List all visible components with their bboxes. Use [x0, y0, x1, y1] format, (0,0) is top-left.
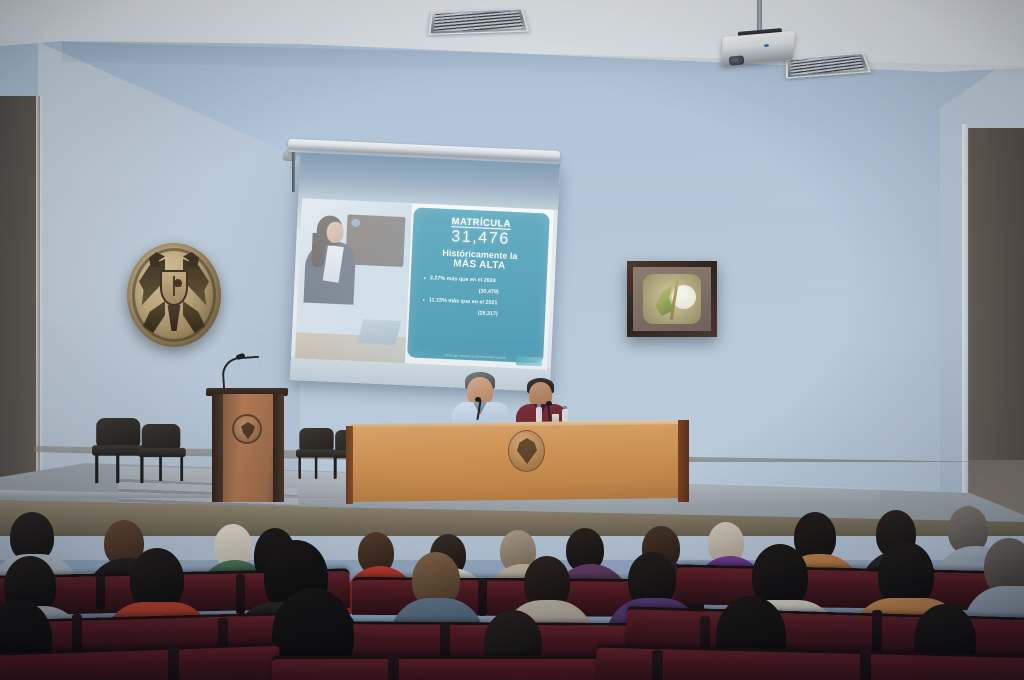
left-wall-edge	[36, 96, 43, 532]
seat-divider	[860, 646, 871, 680]
bullet-dot-icon: •	[423, 275, 426, 284]
slide-logo	[516, 356, 542, 366]
seat-divider	[652, 650, 663, 680]
seat-divider	[872, 610, 882, 656]
table-edge-left	[346, 426, 353, 504]
table-edge-right	[678, 420, 689, 502]
podium-microphone-icon	[221, 356, 261, 391]
slide-text-panel: MATRÍCULA 31,476 Históricamente la MÁS A…	[407, 207, 550, 363]
seat-divider	[478, 578, 487, 616]
artwork-canvas	[643, 274, 701, 324]
photo-light-wash	[295, 198, 412, 363]
slide-bullet-list: • 3.27% más que en el 2024 (30,479) • 11…	[413, 275, 543, 320]
framed-artwork	[627, 261, 717, 337]
seat-divider	[168, 646, 179, 680]
podium-crest-icon	[232, 414, 262, 444]
seat-divider	[236, 574, 245, 614]
seat-divider	[96, 570, 105, 610]
table-microphone-left-head	[475, 397, 481, 402]
podium-post-left	[212, 394, 223, 502]
auditorium-scene: MATRÍCULA 31,476 Históricamente la MÁS A…	[0, 0, 1024, 680]
projection-screen: MATRÍCULA 31,476 Históricamente la MÁS A…	[290, 152, 560, 392]
water-bottle	[536, 407, 542, 422]
table-microphone-right-head	[546, 401, 552, 406]
table-crest-icon	[508, 430, 545, 472]
left-alcove	[0, 96, 40, 526]
presenter-badge	[552, 414, 559, 422]
seal-shield-charge	[174, 279, 182, 287]
right-wall-edge	[962, 124, 969, 520]
water-bottle	[562, 409, 568, 422]
seat-divider	[388, 654, 399, 680]
institutional-seal-icon	[127, 243, 221, 347]
slide-photo	[295, 198, 412, 363]
bullet-text: 3.27% más que en el 2024	[430, 275, 496, 287]
presentation-slide: MATRÍCULA 31,476 Históricamente la MÁS A…	[295, 198, 554, 369]
bullet-dot-icon: •	[422, 297, 425, 306]
bullet-text: 11.15% más que en el 2021	[429, 297, 498, 309]
artwork-mat	[633, 267, 711, 331]
seal-shield	[160, 270, 188, 306]
screen-support-left	[292, 152, 295, 192]
projector-lens	[729, 55, 745, 65]
air-vent-icon	[428, 8, 529, 35]
podium-post-right	[273, 394, 284, 502]
auditorium-seat-row[interactable]	[272, 656, 602, 680]
right-alcove	[968, 128, 1024, 508]
